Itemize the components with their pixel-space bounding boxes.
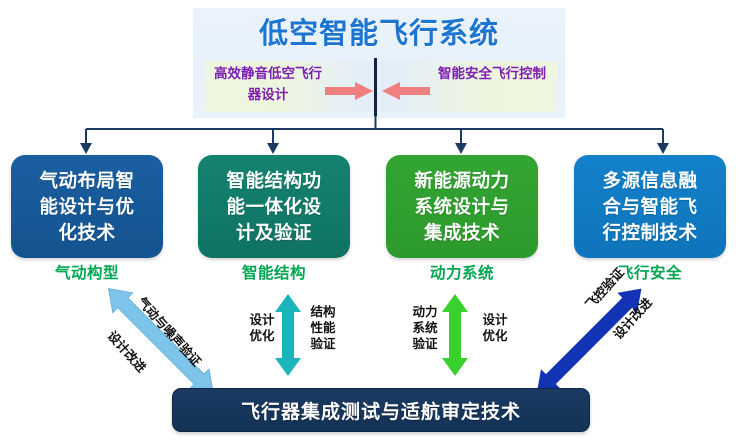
relationship-arrows <box>0 0 750 440</box>
bottom-integration-box[interactable]: 飞行器集成测试与适航审定技术 <box>172 388 590 432</box>
link-label-structure-performance-verify: 结构性能验证 <box>306 304 340 352</box>
diagram-canvas: 低空智能飞行系统 高效静音低空飞行器设计 智能安全飞行控制 气动布局智能设计与优… <box>0 0 750 440</box>
bottom-box-title: 飞行器集成测试与适航审定技术 <box>241 397 521 424</box>
link-label-design-optimize-1: 设计优化 <box>245 312 279 344</box>
link-arrow-vertical-power <box>442 294 468 376</box>
link-label-power-system-verify: 动力系统验证 <box>408 304 442 352</box>
link-label-design-optimize-2: 设计优化 <box>478 312 512 344</box>
